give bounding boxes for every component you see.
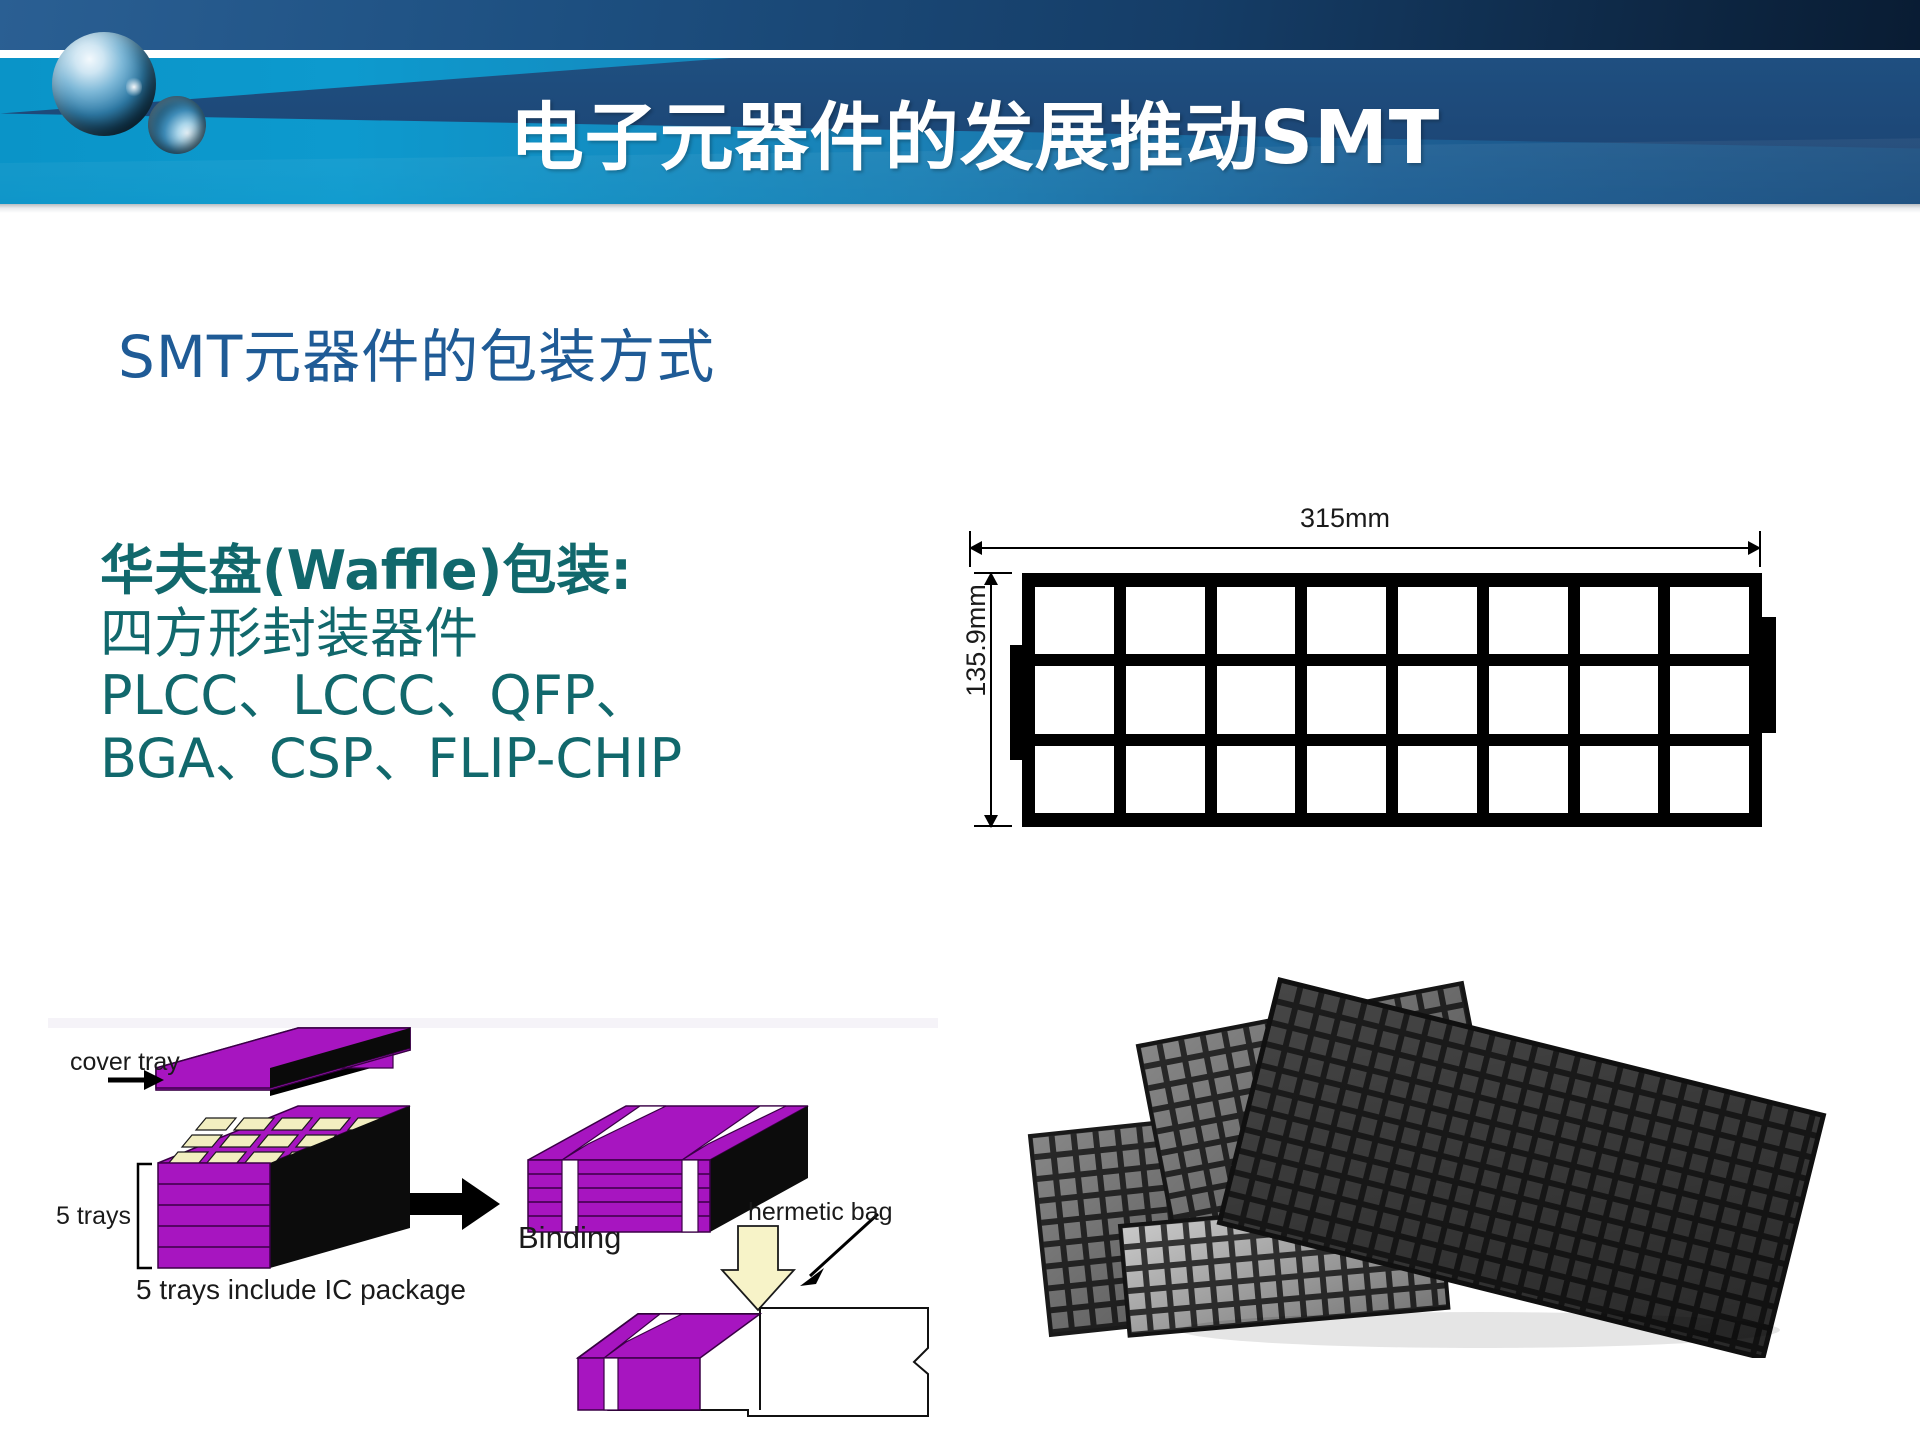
cover-tray-label: cover tray	[70, 1048, 180, 1077]
tray-pocket	[1489, 666, 1568, 733]
binding-label: Binding	[518, 1220, 621, 1256]
tray-pocket	[1217, 587, 1296, 654]
tray-pocket	[1580, 666, 1659, 733]
down-arrow-icon	[722, 1226, 794, 1310]
body-line-2: PLCC、LCCC、QFP、	[100, 665, 682, 728]
body-line-1: 四方形封装器件	[100, 603, 682, 666]
process-arrow-icon	[410, 1178, 500, 1230]
tray-pocket	[1489, 587, 1568, 654]
tray-pocket	[1126, 666, 1205, 733]
tray-pocket	[1126, 746, 1205, 813]
slide-root: 电子元器件的发展推动SMT SMT元器件的包装方式 华夫盘(Waffle)包装:…	[0, 0, 1920, 1440]
hermetic-bag-label: hermetic bag	[748, 1198, 893, 1227]
header-white-gap	[0, 50, 1920, 58]
tray-pocket-grid	[1022, 573, 1762, 827]
body-text-block: 华夫盘(Waffle)包装: 四方形封装器件 PLCC、LCCC、QFP、 BG…	[100, 540, 682, 791]
section-subtitle: SMT元器件的包装方式	[118, 310, 715, 394]
tray-right-ear	[1760, 617, 1776, 733]
tray-height-dimension-label: 135.9mm	[961, 584, 992, 697]
tray-pocket	[1398, 587, 1477, 654]
page-title: 电子元器件的发展推动SMT	[0, 58, 1920, 204]
five-trays-label: 5 trays	[56, 1202, 131, 1231]
tray-pocket	[1580, 587, 1659, 654]
waffle-tray-photo-svg	[1010, 958, 1890, 1358]
tray-width-dimension-label: 315mm	[1300, 503, 1390, 534]
tray-pocket	[1670, 587, 1749, 654]
tray-pocket	[1489, 746, 1568, 813]
tray-pocket	[1217, 666, 1296, 733]
tray-pocket	[1035, 666, 1114, 733]
tray-pocket	[1307, 587, 1386, 654]
tray-packing-process-diagram: cover tray 5 trays 5 trays include IC pa…	[48, 1018, 938, 1418]
tray-pocket	[1670, 666, 1749, 733]
tray-pocket	[1398, 746, 1477, 813]
tray-pocket	[1307, 746, 1386, 813]
body-line-3: BGA、CSP、FLIP-CHIP	[100, 728, 682, 791]
tray-pocket	[1126, 587, 1205, 654]
tray-pocket	[1398, 666, 1477, 733]
tray-pocket	[1670, 746, 1749, 813]
ic-tray-stack-shape	[158, 1106, 410, 1268]
body-heading: 华夫盘(Waffle)包装:	[100, 540, 682, 603]
waffle-tray-photo	[1010, 958, 1890, 1358]
width-dimension-arrow-line	[970, 547, 1760, 549]
tray-pocket	[1035, 587, 1114, 654]
tray-pocket	[1307, 666, 1386, 733]
tray-pocket	[1580, 746, 1659, 813]
process-caption: 5 trays include IC package	[136, 1274, 466, 1306]
cover-tray-shape	[156, 1028, 410, 1096]
tray-pocket	[1035, 746, 1114, 813]
height-dimension-arrow-line	[990, 573, 992, 827]
hermetic-bag-shape	[578, 1308, 928, 1416]
header-divider-rule	[0, 204, 1920, 213]
header-top-bar	[0, 0, 1920, 50]
tray-pocket	[1217, 746, 1296, 813]
five-trays-bracket	[138, 1164, 152, 1268]
waffle-tray-drawing: 315mm 135.9mm	[940, 505, 1800, 850]
